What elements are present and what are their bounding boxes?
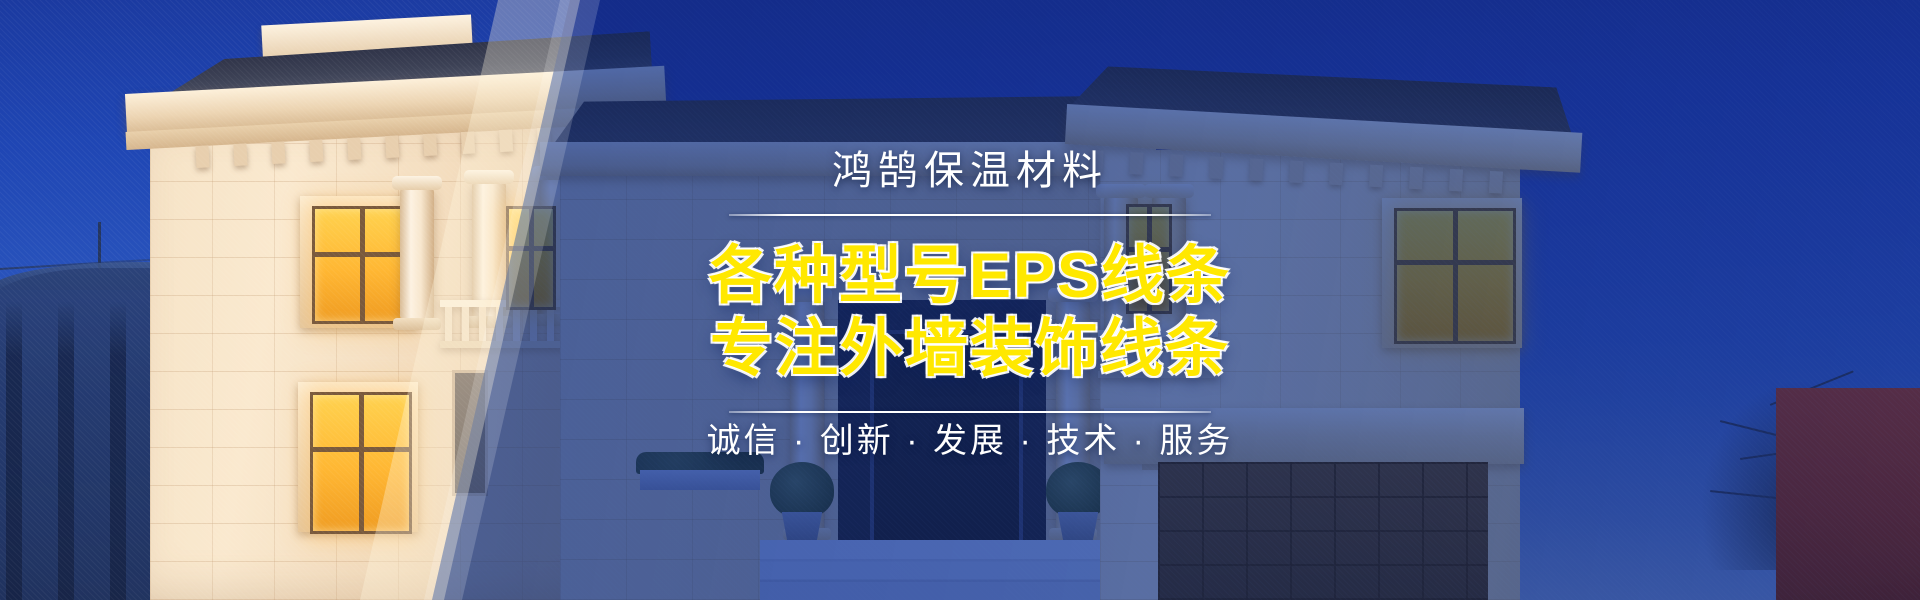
banner-text-block: 鸿鹄保温材料 各种型号EPS线条 专注外墙装饰线条 诚信 · 创新 · 发展 ·… bbox=[660, 0, 1280, 600]
promo-banner: 鸿鹄保温材料 各种型号EPS线条 专注外墙装饰线条 诚信 · 创新 · 发展 ·… bbox=[0, 0, 1920, 600]
lit-window bbox=[312, 206, 412, 324]
column bbox=[400, 188, 434, 320]
brand-name: 鸿鹄保温材料 bbox=[832, 138, 1108, 196]
headline-line-2: 专注外墙装饰线条 bbox=[710, 315, 1230, 383]
headline-line-1: 各种型号EPS线条 bbox=[709, 242, 1231, 310]
divider-top bbox=[729, 214, 1211, 216]
tagline: 诚信 · 创新 · 发展 · 技术 · 服务 bbox=[707, 413, 1234, 462]
